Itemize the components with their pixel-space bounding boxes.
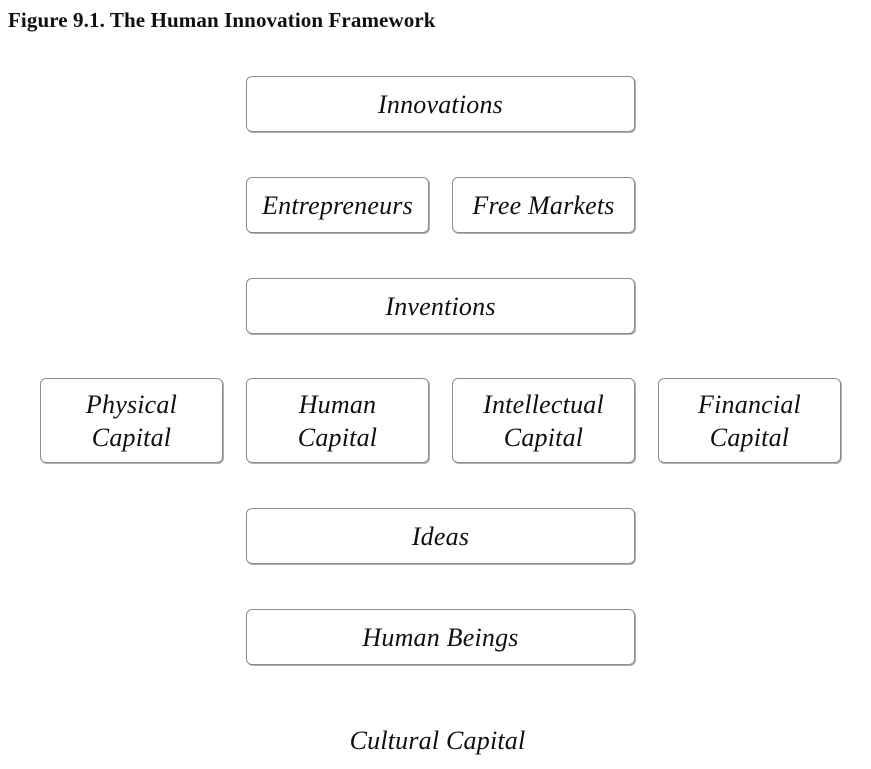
node-inventions: Inventions: [246, 278, 635, 334]
node-label: Inventions: [385, 290, 495, 323]
node-label: Ideas: [412, 520, 469, 553]
node-label: Financial Capital: [698, 388, 801, 454]
node-innovations: Innovations: [246, 76, 635, 132]
node-label: Human Capital: [298, 388, 377, 454]
node-human-capital: Human Capital: [246, 378, 429, 463]
node-label: Human Beings: [362, 621, 518, 654]
node-intellectual-capital: Intellectual Capital: [452, 378, 635, 463]
node-physical-capital: Physical Capital: [40, 378, 223, 463]
node-label: Entrepreneurs: [262, 189, 413, 222]
node-label: Physical Capital: [86, 388, 177, 454]
figure-container: Figure 9.1. The Human Innovation Framewo…: [0, 0, 871, 769]
node-entrepreneurs: Entrepreneurs: [246, 177, 429, 233]
figure-title: Figure 9.1. The Human Innovation Framewo…: [8, 7, 436, 33]
foundation-caption: Cultural Capital: [0, 724, 871, 757]
node-label: Innovations: [378, 88, 503, 121]
node-ideas: Ideas: [246, 508, 635, 564]
node-financial-capital: Financial Capital: [658, 378, 841, 463]
node-label: Free Markets: [472, 189, 614, 222]
node-human-beings: Human Beings: [246, 609, 635, 665]
node-free-markets: Free Markets: [452, 177, 635, 233]
node-label: Intellectual Capital: [483, 388, 604, 454]
